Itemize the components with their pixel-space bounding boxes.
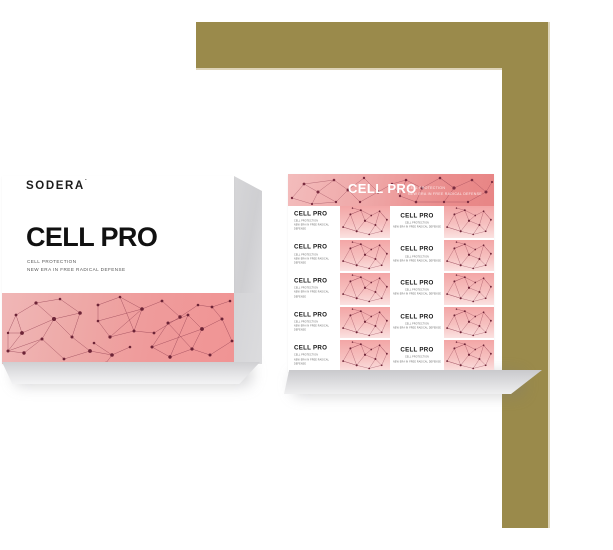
sachet-title: CELL PRO [294, 279, 338, 285]
sachet-title: CELL PRO [294, 312, 338, 318]
gold-fill-top [196, 22, 548, 68]
sachet-subtitle-line-2: NEW ERA IN FREE RADICAL DEFENSE [392, 226, 442, 230]
sachet-cell[interactable]: CELL PROCELL PROTECTIONNEW ERA IN FREE R… [392, 240, 442, 272]
sachet-subtitle: CELL PROTECTIONNEW ERA IN FREE RADICAL D… [392, 255, 442, 263]
sachet-cell[interactable]: CELL PROCELL PROTECTIONNEW ERA IN FREE R… [392, 206, 442, 238]
left-package-subtitle: CELL PROTECTION NEW ERA IN FREE RADICAL … [27, 258, 126, 274]
sachet-subtitle: CELL PROTECTIONNEW ERA IN FREE RADICAL D… [294, 253, 338, 266]
sachet-cell[interactable] [444, 273, 494, 305]
sachet-label: CELL PROCELL PROTECTIONNEW ERA IN FREE R… [294, 279, 338, 300]
network-pattern-sachet [340, 307, 390, 339]
sachet-label: CELL PROCELL PROTECTIONNEW ERA IN FREE R… [294, 346, 338, 367]
network-pattern-sachet [444, 273, 494, 305]
sachet-title: CELL PRO [294, 211, 338, 217]
right-package-bottom-edge [284, 370, 542, 394]
sachet-cell[interactable] [444, 340, 494, 372]
sachet-subtitle: CELL PROTECTIONNEW ERA IN FREE RADICAL D… [392, 222, 442, 230]
sachet-subtitle: CELL PROTECTIONNEW ERA IN FREE RADICAL D… [294, 354, 338, 367]
network-pattern-sachet [340, 340, 390, 372]
sachet-cell[interactable] [444, 240, 494, 272]
sachet-title: CELL PRO [392, 247, 442, 253]
left-package-front-face: SODERA´ CELL PRO CELL PROTECTION NEW ERA… [2, 176, 234, 364]
sachet-subtitle-line-2: NEW ERA IN FREE RADICAL DEFENSE [294, 358, 338, 366]
sachet-cell[interactable] [340, 340, 390, 372]
mockup-canvas: SODERA´ CELL PRO CELL PROTECTION NEW ERA… [0, 0, 613, 550]
sachet-label: CELL PROCELL PROTECTIONNEW ERA IN FREE R… [392, 314, 442, 331]
left-package: SODERA´ CELL PRO CELL PROTECTION NEW ERA… [2, 176, 260, 372]
sachet-cell[interactable]: CELL PROCELL PROTECTIONNEW ERA IN FREE R… [288, 206, 338, 238]
sachet-subtitle: CELL PROTECTIONNEW ERA IN FREE RADICAL D… [392, 356, 442, 364]
network-pattern-sachet [340, 273, 390, 305]
sachet-cell[interactable]: CELL PROCELL PROTECTIONNEW ERA IN FREE R… [288, 240, 338, 272]
sachet-cell[interactable] [444, 206, 494, 238]
sachet-subtitle: CELL PROTECTIONNEW ERA IN FREE RADICAL D… [294, 287, 338, 300]
banner-subtitle: CELL PROTECTION NEW ERA IN FREE RADICAL … [408, 185, 482, 197]
sachet-subtitle-line-2: NEW ERA IN FREE RADICAL DEFENSE [294, 257, 338, 265]
sachet-grid: CELL PROCELL PROTECTIONNEW ERA IN FREE R… [288, 206, 494, 372]
sachet-subtitle-line-2: NEW ERA IN FREE RADICAL DEFENSE [294, 291, 338, 299]
sachet-cell[interactable]: CELL PROCELL PROTECTIONNEW ERA IN FREE R… [288, 340, 338, 372]
network-pattern-sachet [444, 307, 494, 339]
brand-mark: ´ [85, 180, 87, 186]
sachet-title: CELL PRO [392, 314, 442, 320]
banner-title: CELL PRO [348, 182, 417, 195]
network-pattern-sachet [340, 206, 390, 238]
sachet-label: CELL PROCELL PROTECTIONNEW ERA IN FREE R… [392, 348, 442, 365]
sachet-cell[interactable] [340, 240, 390, 272]
sachet-subtitle-line-2: NEW ERA IN FREE RADICAL DEFENSE [294, 224, 338, 232]
brand-logo: SODERA´ [26, 180, 87, 192]
sachet-cell[interactable] [340, 206, 390, 238]
sachet-label: CELL PROCELL PROTECTIONNEW ERA IN FREE R… [294, 312, 338, 333]
gold-bevel-bottom [196, 68, 548, 70]
gold-bevel-right [548, 22, 550, 528]
banner-subtitle-line-2: NEW ERA IN FREE RADICAL DEFENSE [408, 191, 482, 197]
left-subtitle-line-2: NEW ERA IN FREE RADICAL DEFENSE [27, 266, 126, 274]
sachet-subtitle-line-2: NEW ERA IN FREE RADICAL DEFENSE [392, 327, 442, 331]
left-package-bottom-edge [2, 362, 260, 384]
sachet-cell[interactable]: CELL PROCELL PROTECTIONNEW ERA IN FREE R… [392, 273, 442, 305]
sachet-cell[interactable]: CELL PROCELL PROTECTIONNEW ERA IN FREE R… [392, 340, 442, 372]
right-package: CELL PRO CELL PROTECTION NEW ERA IN FREE… [288, 174, 542, 389]
right-package-banner: CELL PRO CELL PROTECTION NEW ERA IN FREE… [288, 174, 494, 206]
network-pattern-left-band [2, 293, 234, 364]
left-package-pink-band [2, 293, 234, 364]
sachet-label: CELL PROCELL PROTECTIONNEW ERA IN FREE R… [392, 213, 442, 230]
sachet-cell[interactable]: CELL PROCELL PROTECTIONNEW ERA IN FREE R… [392, 307, 442, 339]
sachet-subtitle: CELL PROTECTIONNEW ERA IN FREE RADICAL D… [392, 289, 442, 297]
sachet-cell[interactable] [340, 273, 390, 305]
sachet-subtitle: CELL PROTECTIONNEW ERA IN FREE RADICAL D… [294, 320, 338, 333]
sachet-title: CELL PRO [392, 213, 442, 219]
sachet-cell[interactable] [444, 307, 494, 339]
sachet-label: CELL PROCELL PROTECTIONNEW ERA IN FREE R… [392, 247, 442, 264]
sachet-title: CELL PRO [392, 281, 442, 287]
left-subtitle-line-1: CELL PROTECTION [27, 258, 126, 266]
right-package-front-face: CELL PRO CELL PROTECTION NEW ERA IN FREE… [288, 174, 494, 372]
sachet-subtitle: CELL PROTECTIONNEW ERA IN FREE RADICAL D… [294, 220, 338, 233]
sachet-label: CELL PROCELL PROTECTIONNEW ERA IN FREE R… [392, 281, 442, 298]
sachet-cell[interactable]: CELL PROCELL PROTECTIONNEW ERA IN FREE R… [288, 273, 338, 305]
sachet-title: CELL PRO [294, 245, 338, 251]
network-pattern-sachet [444, 206, 494, 238]
sachet-cell[interactable] [340, 307, 390, 339]
sachet-title: CELL PRO [392, 348, 442, 354]
gold-frame-top-bar [196, 22, 548, 68]
left-package-title: CELL PRO [26, 224, 157, 251]
sachet-subtitle: CELL PROTECTIONNEW ERA IN FREE RADICAL D… [392, 322, 442, 330]
sachet-label: CELL PROCELL PROTECTIONNEW ERA IN FREE R… [294, 211, 338, 232]
brand-logo-text: SODERA [26, 180, 85, 192]
left-package-band-side [234, 293, 262, 364]
sachet-title: CELL PRO [294, 346, 338, 352]
network-pattern-sachet [444, 240, 494, 272]
sachet-subtitle-line-2: NEW ERA IN FREE RADICAL DEFENSE [294, 325, 338, 333]
sachet-subtitle-line-2: NEW ERA IN FREE RADICAL DEFENSE [392, 259, 442, 263]
network-pattern-sachet [340, 240, 390, 272]
sachet-cell[interactable]: CELL PROCELL PROTECTIONNEW ERA IN FREE R… [288, 307, 338, 339]
sachet-subtitle-line-2: NEW ERA IN FREE RADICAL DEFENSE [392, 293, 442, 297]
sachet-subtitle-line-2: NEW ERA IN FREE RADICAL DEFENSE [392, 360, 442, 364]
sachet-label: CELL PROCELL PROTECTIONNEW ERA IN FREE R… [294, 245, 338, 266]
network-pattern-sachet [444, 340, 494, 372]
